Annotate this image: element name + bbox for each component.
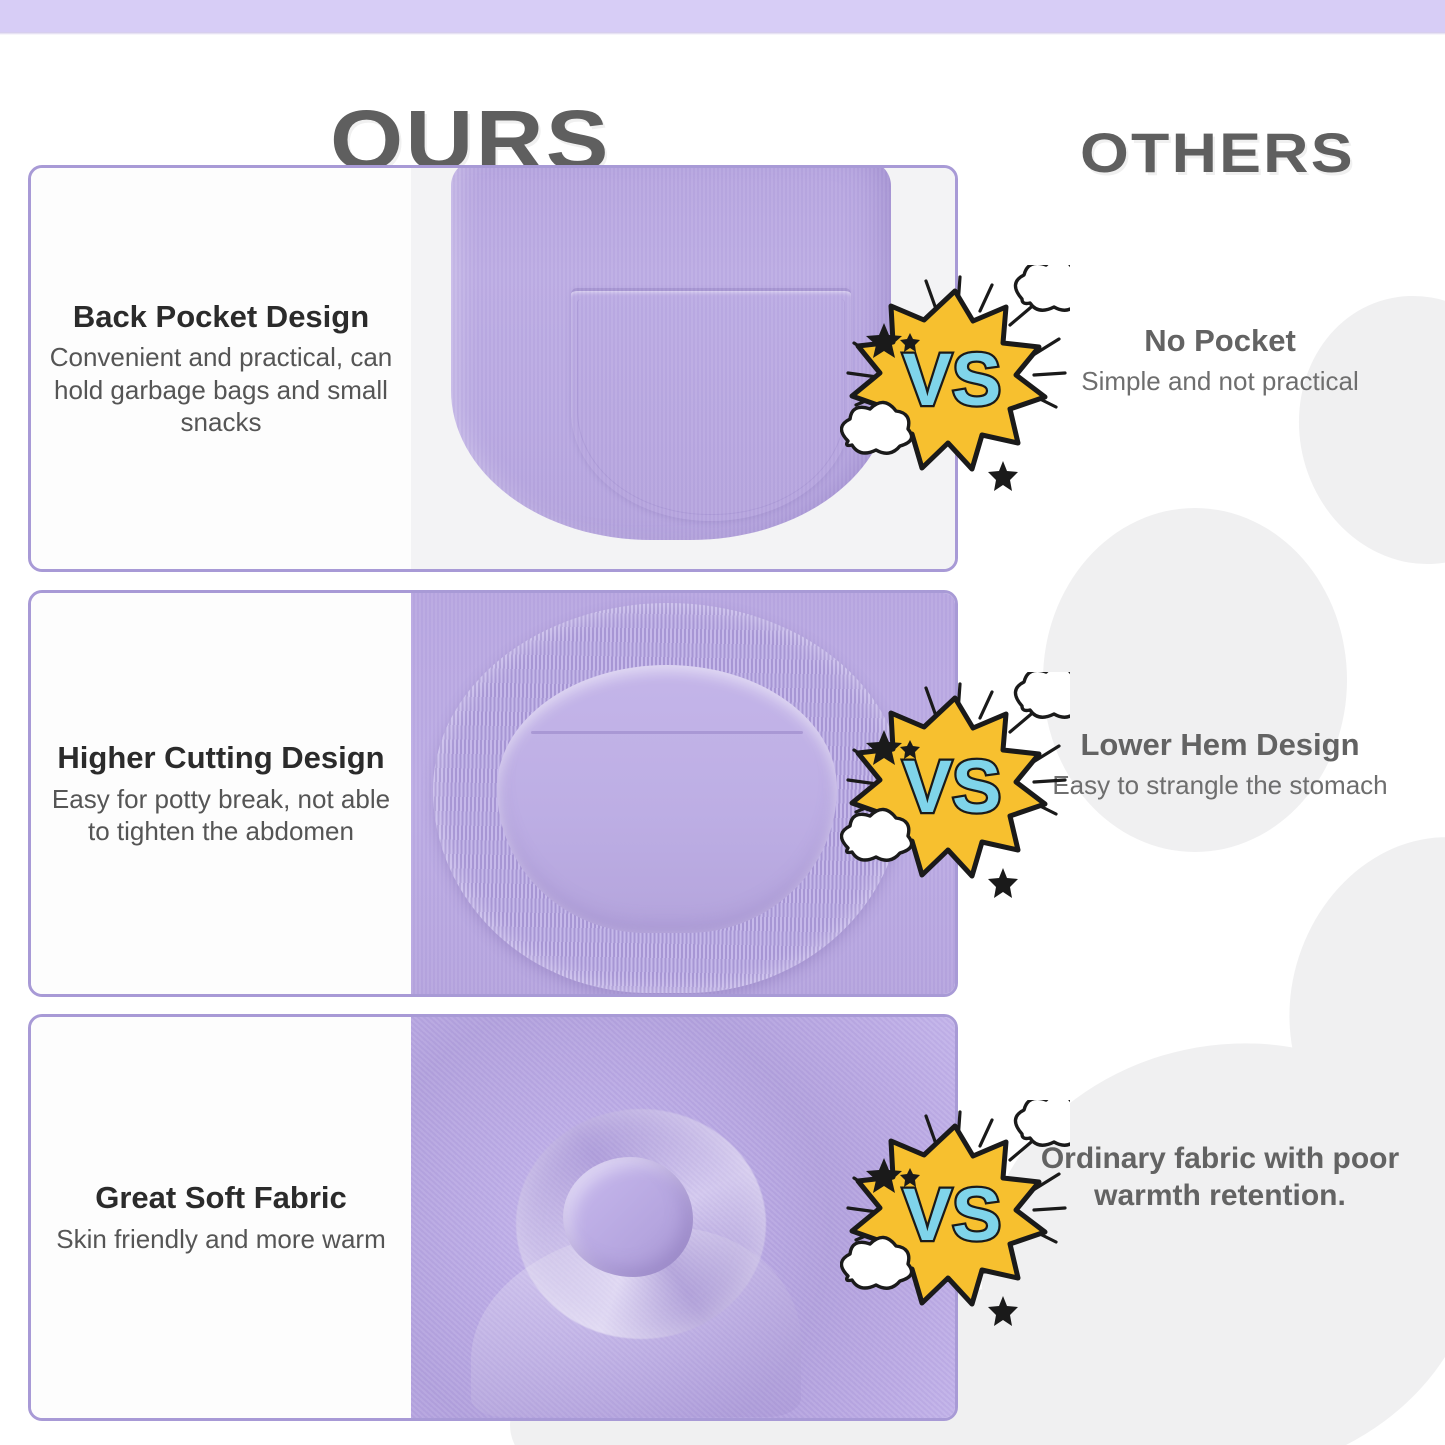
ours-subtitle-2: Easy for potty break, not able to tighte… xyxy=(41,783,401,847)
top-band-shadow xyxy=(0,32,1445,35)
hood-opening-rib-trim-photo xyxy=(411,593,955,994)
garment-back-pocket-photo xyxy=(411,168,955,569)
others-text-block-1: No Pocket Simple and not practical xyxy=(1010,322,1430,397)
comparison-card-2: Higher Cutting Design Easy for potty bre… xyxy=(28,590,958,997)
others-text-block-2: Lower Hem Design Easy to strangle the st… xyxy=(1010,726,1430,801)
fabric-swirl-core xyxy=(563,1157,693,1277)
others-text-block-3: Ordinary fabric with poor warmth retenti… xyxy=(1010,1140,1430,1220)
comparison-card-1: Back Pocket Design Convenient and practi… xyxy=(28,165,958,572)
page-title-others: OTHERS xyxy=(1080,120,1355,185)
ours-title-2: Higher Cutting Design xyxy=(57,740,384,777)
garment-body-shape xyxy=(451,168,891,540)
hood-seam-line xyxy=(531,731,803,734)
ours-subtitle-1: Convenient and practical, can hold garba… xyxy=(41,341,401,438)
top-accent-band xyxy=(0,0,1445,32)
ours-text-block-2: Higher Cutting Design Easy for potty bre… xyxy=(31,593,411,994)
others-title-2: Lower Hem Design xyxy=(1010,726,1430,763)
back-pocket-shape xyxy=(571,288,851,521)
ours-subtitle-3: Skin friendly and more warm xyxy=(56,1223,385,1255)
others-subtitle-2: Easy to strangle the stomach xyxy=(1010,769,1430,801)
vs-cloud-upper-right xyxy=(1015,265,1070,310)
soft-fabric-swirl-photo xyxy=(411,1017,955,1418)
comparison-card-3: Great Soft Fabric Skin friendly and more… xyxy=(28,1014,958,1421)
vs-cloud-upper-right xyxy=(1015,672,1070,717)
others-subtitle-1: Simple and not practical xyxy=(1010,365,1430,397)
ours-text-block-1: Back Pocket Design Convenient and practi… xyxy=(31,168,411,569)
header-row: OURS OTHERS xyxy=(0,44,1445,154)
vs-cloud-upper-right xyxy=(1015,1100,1070,1145)
others-title-3: Ordinary fabric with poor warmth retenti… xyxy=(1010,1140,1430,1214)
hood-inner-panel xyxy=(497,665,837,933)
ours-title-3: Great Soft Fabric xyxy=(95,1180,347,1217)
others-title-1: No Pocket xyxy=(1010,322,1430,359)
ours-text-block-3: Great Soft Fabric Skin friendly and more… xyxy=(31,1017,411,1418)
ours-title-1: Back Pocket Design xyxy=(73,299,369,336)
